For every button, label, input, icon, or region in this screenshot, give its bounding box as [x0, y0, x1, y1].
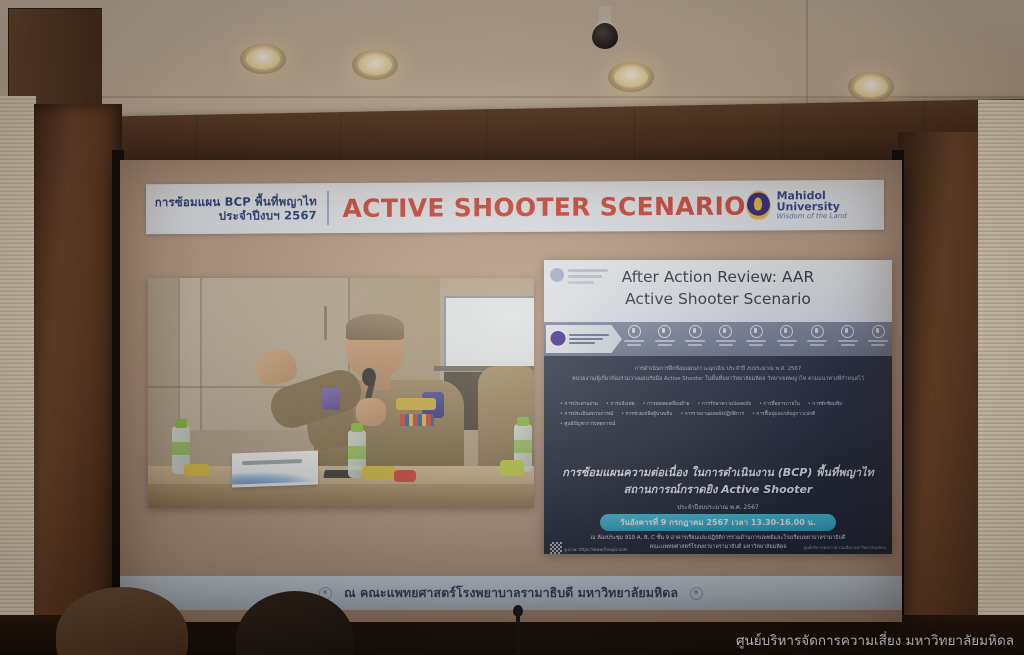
- aar-title-line2: Active Shooter Scenario: [544, 288, 892, 310]
- inner-slide-main-title: การซ้อมแผนความต่อเนื่อง ในการดำเนินงาน (…: [554, 464, 882, 498]
- snack-item: [394, 470, 416, 482]
- left-wood-wall-panel: [34, 104, 122, 634]
- intro-line1: การดำเนินการฝึกซ้อมแผนภาวะฉุกเฉิน ประจำป…: [558, 364, 878, 374]
- snack-item: [500, 460, 524, 476]
- main-title-line2: สถานการณ์กราดยิง Active Shooter: [554, 481, 882, 498]
- ribbon-step-icon: [683, 324, 707, 354]
- shoulder-patch: [322, 388, 340, 410]
- projection-screen: การซ้อมแผน BCP พื้นที่พญาไท ประจำปีงบฯ 2…: [120, 160, 902, 622]
- ribbon-step-icon: [653, 324, 677, 354]
- ribbon-step-icon: [714, 324, 738, 354]
- event-date-badge: วันอังคารที่ 9 กรกฎาคม 2567 เวลา 13.30-1…: [600, 514, 836, 531]
- inner-slide-ribbon: [544, 322, 892, 356]
- inner-slide-title-bar: After Action Review: AAR Active Shooter …: [544, 260, 892, 322]
- venue-line1: ณ ห้องประชุม 910 A, B, C ชั้น 9 อาคารเรี…: [554, 534, 882, 543]
- slide-bullet: ศูนย์บัญชาการเหตุการณ์: [560, 420, 615, 428]
- microphone-icon: [362, 368, 376, 386]
- inner-slide-footer-note: ศูนย์บริหารจัดการความเสี่ยง มหาวิทยาลัยม…: [804, 544, 886, 551]
- header-thai-line2: ประจำปีงบฯ 2567: [146, 208, 317, 223]
- slide-bullet: การประเมินสถานการณ์: [560, 410, 613, 418]
- ribbon-step-icon: [622, 324, 646, 354]
- image-watermark: ศูนย์บริหารจัดการความเสี่ยง มหาวิทยาลัยม…: [736, 629, 1014, 651]
- downlight-icon: [608, 62, 654, 92]
- org-name: Mahidol University: [777, 190, 872, 214]
- ribbon-step-icon: [836, 324, 860, 354]
- slide-bullet: การรายงานผลหลังปฏิบัติการ: [680, 410, 744, 418]
- mahidol-seal-icon: [746, 190, 771, 220]
- right-window-blind: [978, 100, 1024, 620]
- speaker-photo: [148, 278, 534, 508]
- ribbon-step-icon: [805, 324, 829, 354]
- downlight-icon: [848, 72, 894, 102]
- screenshot-root: การซ้อมแผน BCP พื้นที่พญาไท ประจำปีงบฯ 2…: [0, 0, 1024, 655]
- snack-item: [184, 464, 210, 476]
- slide-footer-bar: ณ คณะแพทยศาสตร์โรงพยาบาลรามาธิบดี มหาวิท…: [120, 576, 902, 610]
- downlight-icon: [352, 50, 398, 80]
- slide-bullet: การอพยพเคลื่อนย้าย: [643, 400, 690, 408]
- ribbon-step-icon: [866, 324, 890, 354]
- snack-item: [362, 466, 396, 480]
- name-tent-card: [232, 450, 318, 487]
- image-source-note: รูปภาพ: https://www.freepik.com: [564, 546, 628, 553]
- security-camera-icon: [592, 6, 618, 52]
- ribbon-org-badge: [546, 325, 622, 353]
- ribbon-icon-row: [622, 324, 890, 354]
- ribbon-step-icon: [744, 324, 768, 354]
- slide-bullet: การสื่อสารภายใน: [759, 400, 800, 408]
- slide-bullet: การฟื้นฟูและกลับสู่ภาวะปกติ: [752, 410, 815, 418]
- budget-year-line: ประจำปีงบประมาณ พ.ศ. 2567: [554, 502, 882, 512]
- badge-wings-icon: [396, 398, 436, 410]
- left-window-blind: [0, 96, 36, 616]
- slide-footer-caption: ณ คณะแพทยศาสตร์โรงพยาบาลรามาธิบดี มหาวิท…: [344, 583, 678, 603]
- main-title-line1: การซ้อมแผนความต่อเนื่อง ในการดำเนินงาน (…: [554, 464, 882, 481]
- bullet-ring-icon: [690, 587, 703, 600]
- slide-bullet: การรักษาความปลอดภัย: [697, 400, 751, 408]
- slide-bullet: การแจ้งเหตุ: [606, 400, 635, 408]
- slide-header-thai: การซ้อมแผน BCP พื้นที่พญาไท ประจำปีงบฯ 2…: [146, 194, 327, 224]
- slide-main-title: ACTIVE SHOOTER SCENARIO: [329, 191, 746, 223]
- inner-slide-body: การดำเนินการฝึกซ้อมแผนภาวะฉุกเฉิน ประจำป…: [544, 356, 892, 554]
- ribbon-step-icon: [775, 324, 799, 354]
- slide-header-band: การซ้อมแผน BCP พื้นที่พญาไท ประจำปีงบฯ 2…: [146, 180, 884, 235]
- inner-slide-intro: การดำเนินการฝึกซ้อมแผนภาวะฉุกเฉิน ประจำป…: [558, 364, 878, 384]
- qr-code-icon: [550, 542, 562, 554]
- mahidol-seal-icon: [550, 331, 566, 347]
- org-tagline: Wisdom of the Land: [777, 213, 872, 221]
- downlight-icon: [240, 44, 286, 74]
- header-thai-line1: การซ้อมแผน BCP พื้นที่พญาไท: [146, 194, 317, 209]
- inner-presentation-slide: After Action Review: AAR Active Shooter …: [544, 260, 892, 554]
- aar-title-line1: After Action Review: AAR: [544, 266, 892, 288]
- ribbon-bar: [400, 414, 434, 426]
- intro-line2: หน่วยงาน/ผู้เกี่ยวข้องร่วมวางแผนรับมือ A…: [558, 374, 878, 384]
- inner-slide-bullets: การประสานงานการแจ้งเหตุการอพยพเคลื่อนย้า…: [560, 400, 876, 428]
- slide-bullet: การซักซ้อมทีม: [808, 400, 842, 408]
- slide-bullet: การช่วยเหลือผู้บาดเจ็บ: [621, 410, 672, 418]
- police-officer: [300, 314, 472, 474]
- mahidol-logo: Mahidol University Wisdom of the Land: [746, 190, 884, 221]
- slide-bullet: การประสานงาน: [560, 400, 598, 408]
- microphone-stand: [516, 613, 520, 655]
